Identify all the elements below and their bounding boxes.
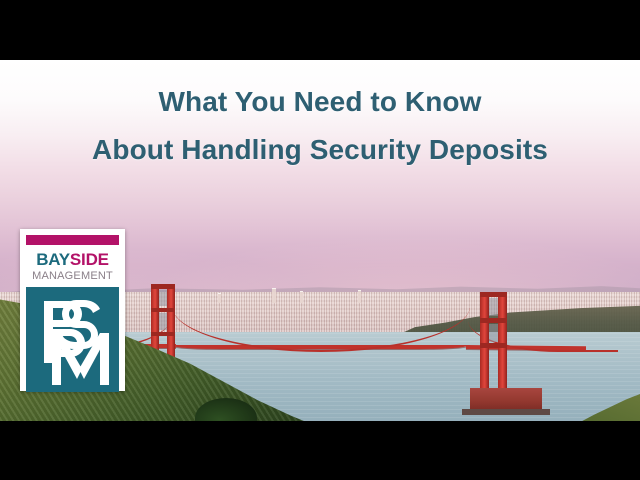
slide-title-block: What You Need to Know About Handling Sec… — [0, 88, 640, 164]
slide-title-line-2: About Handling Security Deposits — [0, 136, 640, 164]
letterbox-bar-top — [0, 0, 640, 60]
tower-crossbeam — [151, 332, 175, 336]
slide-stage: What You Need to Know About Handling Sec… — [0, 60, 640, 421]
bridge-tower-south — [498, 292, 507, 392]
fort-point-building — [470, 388, 542, 410]
tower-crossbeam — [480, 292, 507, 297]
logo-text-side: SIDE — [70, 250, 109, 269]
fort-point-seawall — [462, 409, 550, 415]
logo-wordmark: BAYSIDE — [26, 251, 119, 269]
video-frame: What You Need to Know About Handling Sec… — [0, 0, 640, 480]
tower-crossbeam — [480, 343, 507, 348]
logo-monogram-box — [26, 287, 119, 392]
tower-opening — [489, 324, 498, 342]
tower-opening — [489, 298, 498, 316]
letterbox-bar-bottom — [0, 421, 640, 480]
slide-title-line-1: What You Need to Know — [0, 88, 640, 116]
logo-accent-bar — [26, 235, 119, 245]
tower-opening — [159, 313, 167, 330]
tower-crossbeam — [151, 284, 175, 289]
tower-crossbeam — [151, 308, 175, 312]
bayside-management-logo: BAYSIDE MANAGEMENT — [20, 229, 125, 391]
bsm-monogram-icon — [26, 287, 119, 392]
logo-text-bay: BAY — [36, 250, 70, 269]
tower-opening — [159, 290, 167, 306]
tower-crossbeam — [480, 318, 507, 323]
bridge-tower-south — [480, 292, 489, 392]
logo-text-management: MANAGEMENT — [26, 271, 119, 282]
